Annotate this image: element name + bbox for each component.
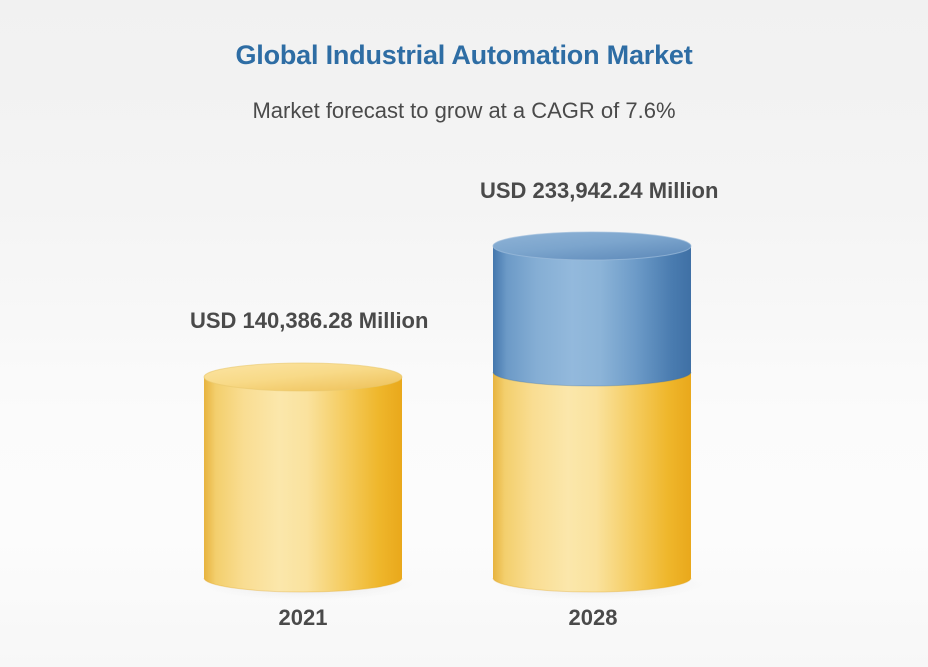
cylinder-2021 bbox=[190, 352, 416, 602]
plot-area: USD 140,386.28 Million bbox=[0, 0, 928, 667]
bar-group-2021[interactable]: USD 140,386.28 Million bbox=[190, 0, 416, 667]
category-label-2021: 2021 bbox=[190, 605, 416, 631]
value-label-2021: USD 140,386.28 Million bbox=[190, 308, 416, 334]
value-label-2028: USD 233,942.24 Million bbox=[480, 178, 706, 204]
chart-container: Global Industrial Automation Market Mark… bbox=[0, 0, 928, 667]
cylinder-2028 bbox=[480, 220, 706, 602]
category-label-2028: 2028 bbox=[480, 605, 706, 631]
bar-group-2028[interactable]: USD 233,942.24 Million bbox=[480, 0, 706, 667]
